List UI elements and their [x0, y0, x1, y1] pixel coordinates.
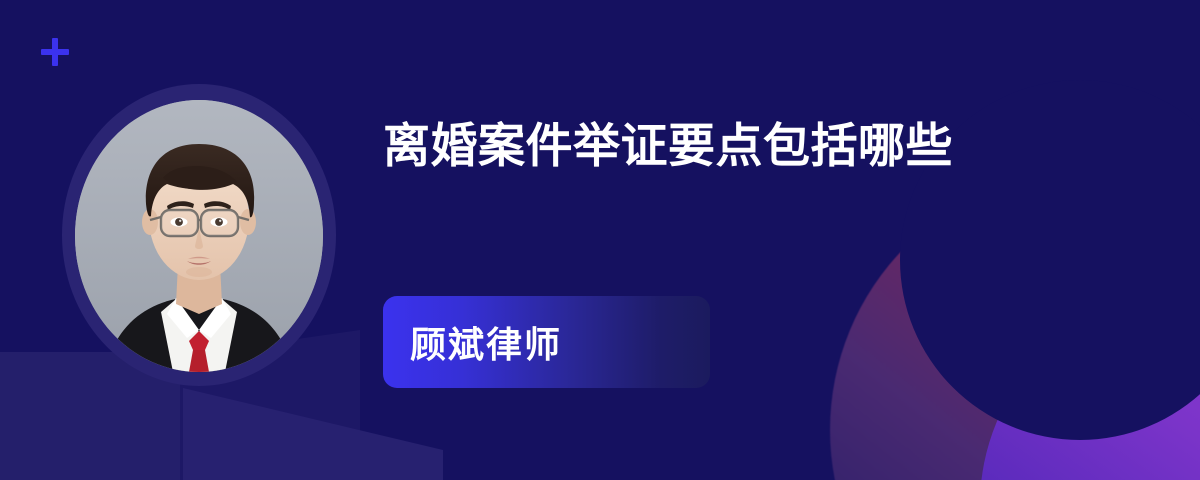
headline-block: 离婚案件举证要点包括哪些: [383, 112, 1083, 181]
avatar: [62, 84, 336, 386]
page-title: 离婚案件举证要点包括哪些: [383, 112, 1083, 181]
promo-card: 离婚案件举证要点包括哪些 顾斌律师: [0, 0, 1200, 480]
lawyer-name-badge[interactable]: 顾斌律师: [383, 296, 710, 388]
plus-icon: [41, 38, 69, 66]
avatar-photo: [75, 100, 323, 372]
lawyer-name-label: 顾斌律师: [383, 316, 562, 368]
